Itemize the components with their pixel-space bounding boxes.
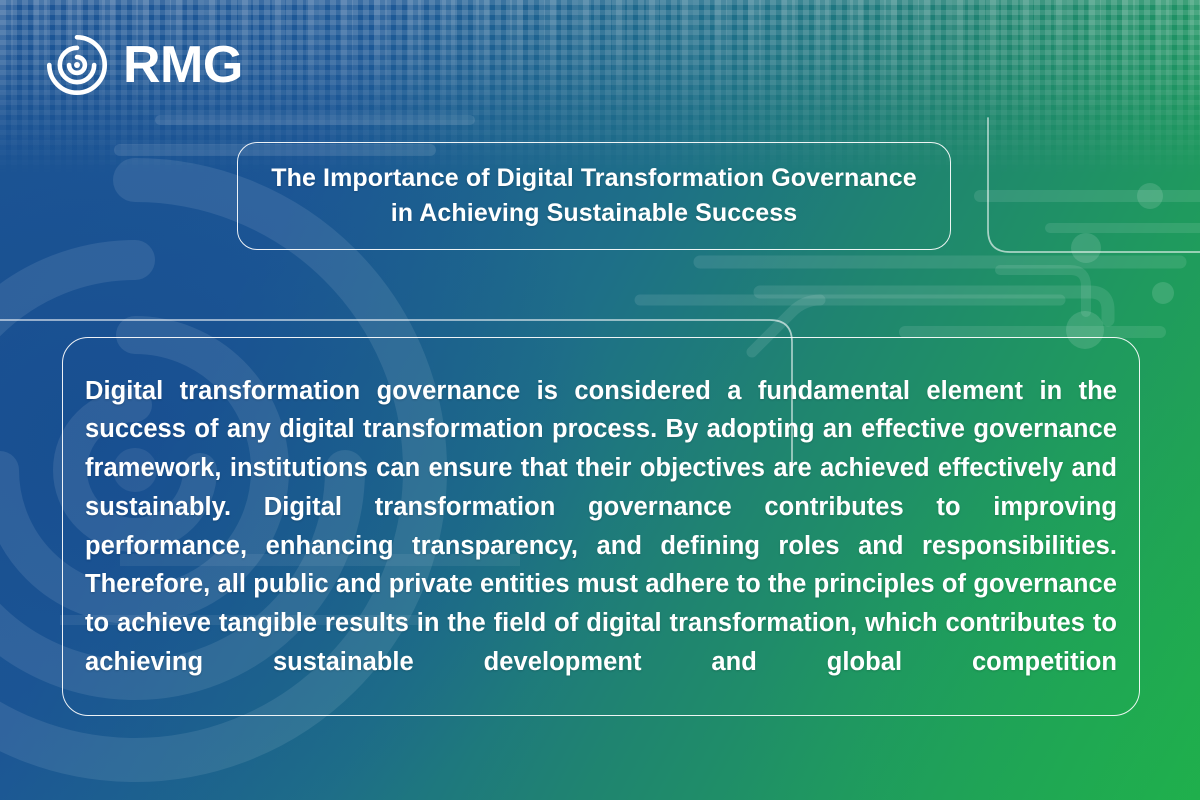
brand-logo[interactable]: RMG	[44, 32, 243, 98]
body-card: Digital transformation governance is con…	[62, 337, 1140, 716]
body-paragraph: Digital transformation governance is con…	[63, 372, 1139, 682]
title-card: The Importance of Digital Transformation…	[237, 142, 951, 250]
brand-name: RMG	[123, 39, 243, 91]
rmg-spiral-logo-icon	[44, 32, 110, 98]
page-title: The Importance of Digital Transformation…	[238, 161, 950, 232]
poster-canvas: RMG The Importance of Digital Transforma…	[0, 0, 1200, 800]
